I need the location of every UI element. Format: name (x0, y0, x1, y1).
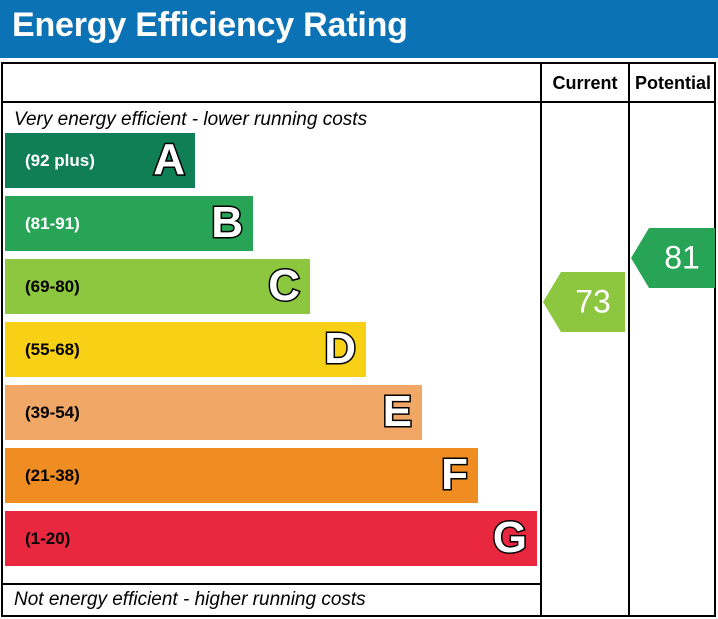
band-range-label: (39-54) (25, 403, 80, 423)
band-range-label: (21-38) (25, 466, 80, 486)
rating-band-d: (55-68)D (5, 322, 366, 377)
rating-band-e: (39-54)E (5, 385, 422, 440)
rating-band-c: (69-80)C (5, 259, 310, 314)
band-letter-d: D (324, 327, 356, 371)
band-letter-a: A (153, 138, 185, 182)
current-rating-value: 73 (567, 285, 619, 317)
band-range-label: (55-68) (25, 340, 80, 360)
footer-divider (1, 583, 540, 585)
band-range-label: (1-20) (25, 529, 70, 549)
band-letter-e: E (383, 390, 412, 434)
band-letter-f: F (441, 453, 468, 497)
column-divider-potential (628, 62, 630, 617)
column-header-potential: Potential (630, 71, 716, 95)
band-range-label: (92 plus) (25, 151, 95, 171)
band-letter-g: G (493, 516, 527, 560)
caption-bottom: Not energy efficient - higher running co… (14, 587, 366, 613)
column-divider-current (540, 62, 542, 617)
band-letter-b: B (211, 201, 243, 245)
band-range-label: (69-80) (25, 277, 80, 297)
energy-efficiency-rating-chart: Energy Efficiency Rating Current Potenti… (0, 0, 718, 619)
rating-band-f: (21-38)F (5, 448, 478, 503)
title-bar: Energy Efficiency Rating (0, 0, 718, 58)
header-divider (1, 101, 716, 103)
band-range-label: (81-91) (25, 214, 80, 234)
band-letter-c: C (268, 264, 300, 308)
page-title: Energy Efficiency Rating (12, 6, 408, 45)
rating-band-b: (81-91)B (5, 196, 253, 251)
potential-rating-value: 81 (655, 241, 709, 273)
rating-band-a: (92 plus)A (5, 133, 195, 188)
rating-band-g: (1-20)G (5, 511, 537, 566)
caption-top: Very energy efficient - lower running co… (14, 107, 367, 133)
column-header-current: Current (542, 71, 628, 95)
